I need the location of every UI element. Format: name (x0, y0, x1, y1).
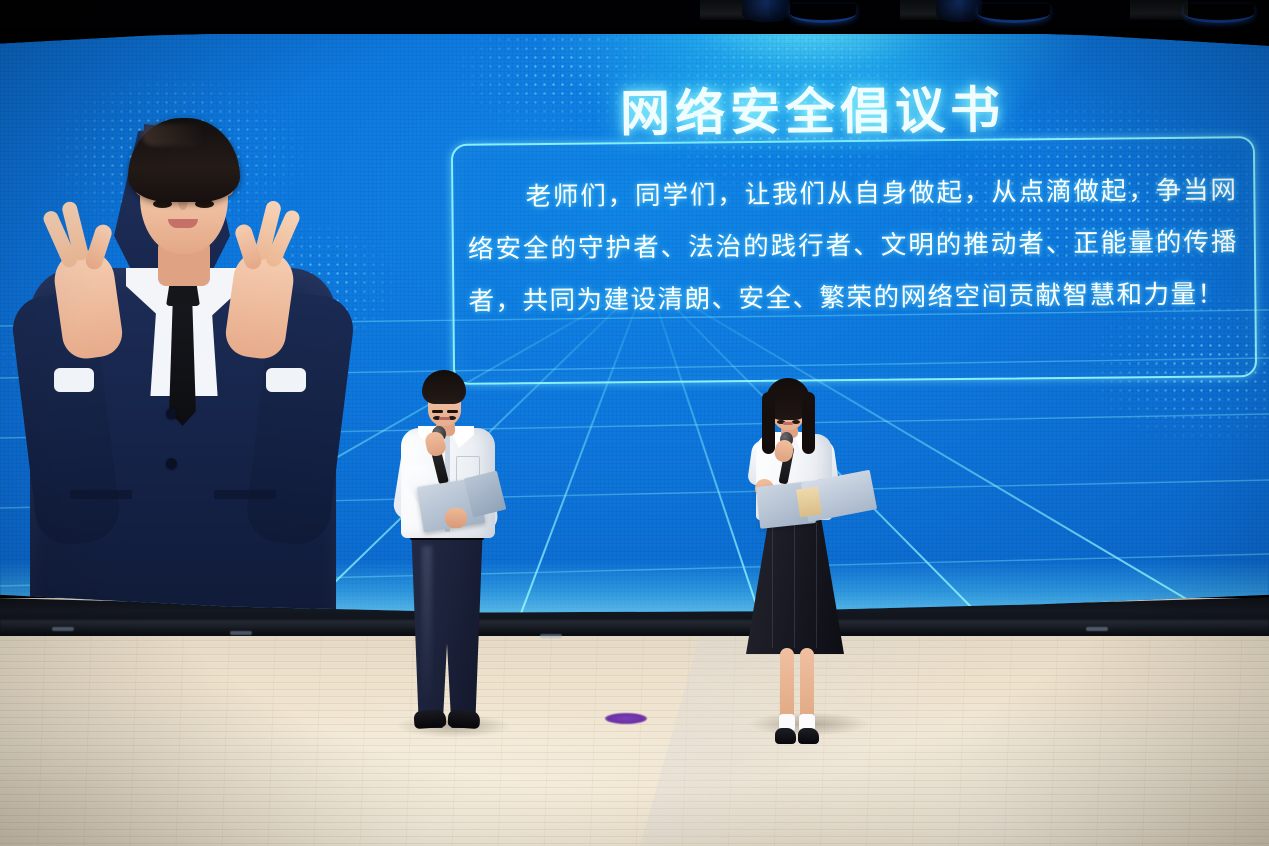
interpreter-thumb (83, 222, 113, 271)
male-student (392, 370, 512, 740)
interpreter-cuff-right (266, 368, 306, 392)
interpreter-jacket-button-upper (166, 408, 177, 419)
male-student-hand-holding-folder (445, 508, 467, 528)
female-student-skirt (746, 514, 844, 654)
female-student-folder-pages (796, 487, 822, 518)
male-student-shoe-right (447, 709, 480, 729)
female-student-shoe-left (775, 728, 796, 744)
male-student-trouser-highlight (422, 546, 432, 706)
truss-lamp-rim (978, 4, 1050, 23)
interpreter-jacket-button-lower (166, 458, 177, 469)
truss-lamp-rim (790, 4, 856, 23)
truss-lamp-rim (1184, 4, 1254, 23)
interpreter-cuff-left (54, 368, 94, 392)
female-student-hair-strand-right (802, 392, 815, 454)
interpreter-mouth (168, 219, 198, 228)
truss-spotlight (742, 0, 790, 22)
male-student-shoe-left (413, 709, 446, 729)
base-foot-plate (540, 634, 562, 638)
male-student-mouth (439, 417, 450, 420)
female-student-leg-left (780, 648, 794, 722)
female-student-mouth (783, 422, 793, 425)
female-student (742, 378, 862, 746)
interpreter-hair (128, 118, 240, 202)
base-foot-plate (52, 627, 74, 631)
floor-position-marker (605, 713, 647, 724)
slide-title: 网络安全倡议书 (620, 70, 1006, 146)
male-student-brow-left (432, 410, 443, 413)
base-foot-plate (230, 631, 252, 635)
male-student-hair (422, 370, 466, 404)
interpreter-pocket-right (214, 490, 276, 499)
female-student-hair-strand-left (762, 392, 775, 454)
base-gloss-highlight (0, 620, 1269, 634)
stage-photograph: 网络安全倡议书 老师们，同学们，让我们从自身做起，从点滴做起，争当网络安全的守护… (0, 0, 1269, 846)
female-student-eye-right (792, 420, 800, 424)
truss-spotlight (936, 0, 982, 22)
base-foot-plate (1086, 627, 1108, 631)
male-student-brow-right (447, 410, 458, 413)
female-student-skirt-pleat (772, 522, 773, 648)
overhead-lighting-truss-band (0, 0, 1269, 34)
female-student-shoe-right (798, 728, 819, 744)
female-student-skirt-pleat (794, 522, 795, 648)
female-student-skirt-pleat (816, 522, 817, 648)
female-student-leg-right (800, 648, 814, 722)
interpreter-pocket-left (70, 490, 132, 499)
sign-language-interpreter (18, 118, 348, 616)
slide-body-text: 老师们，同学们，让我们从自身做起，从点滴做起，争当网络安全的守护者、法治的践行者… (467, 164, 1238, 327)
truss-fixture-housing (1130, 0, 1188, 20)
